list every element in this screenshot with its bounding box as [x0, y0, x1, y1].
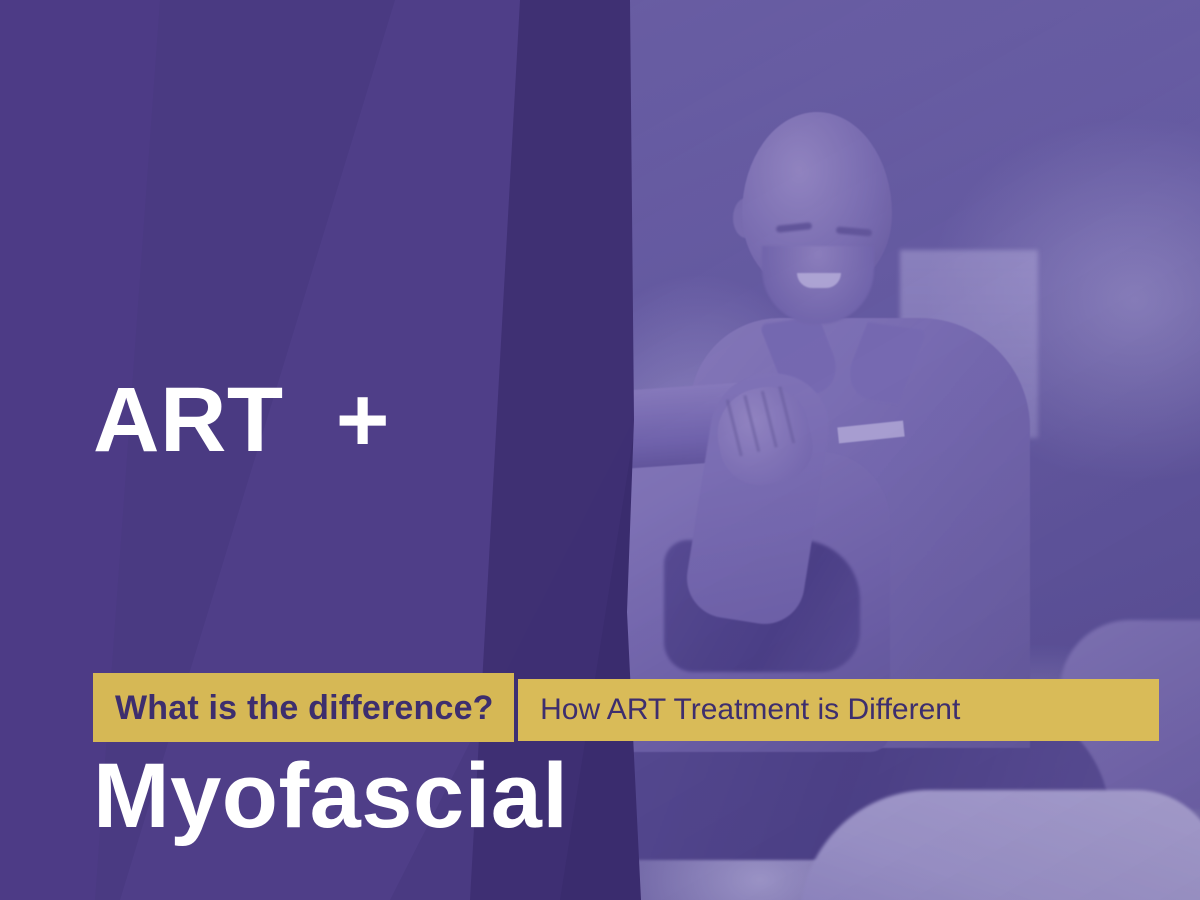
page-title-line-2: Myofascial [93, 734, 693, 859]
presentation-slide: ART + Myofascial What is the difference?… [0, 0, 1200, 900]
callout-question: What is the difference? [93, 673, 514, 742]
page-title: ART + Myofascial [93, 108, 693, 900]
page-title-line-1: ART + [93, 358, 693, 483]
callout-block: What is the difference? How ART Treatmen… [93, 655, 1159, 742]
callout-subtitle: How ART Treatment is Different [518, 679, 1159, 741]
